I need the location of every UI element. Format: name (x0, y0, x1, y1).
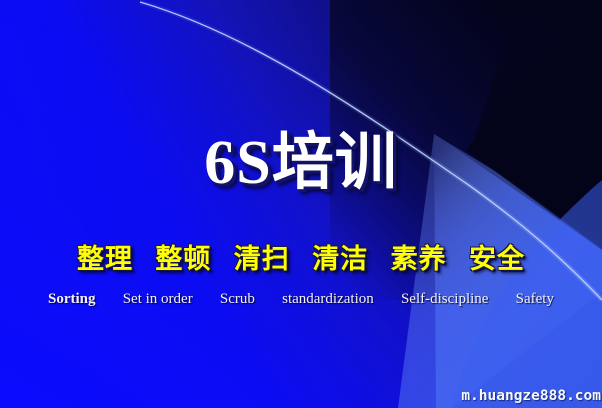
chinese-terms-row: 整理 整顿 清扫 清洁 素养 安全 (0, 243, 602, 277)
chinese-term-5: 素养 (391, 244, 447, 275)
chinese-term-6: 安全 (469, 244, 525, 275)
presentation-slide: 6S培训 整理 整顿 清扫 清洁 素养 安全 Sorting Set in or… (0, 0, 602, 408)
watermark-text: m.huangze888.com (461, 387, 601, 405)
english-term-1: Sorting (48, 289, 96, 309)
english-term-4: standardization (282, 289, 374, 309)
slide-content: 6S培训 整理 整顿 清扫 清洁 素养 安全 Sorting Set in or… (0, 0, 602, 408)
chinese-term-2: 整顿 (155, 244, 211, 275)
english-term-3: Scrub (220, 289, 255, 309)
page-title: 6S培训 (0, 126, 602, 200)
english-terms-row: Sorting Set in order Scrub standardizati… (0, 289, 602, 309)
english-term-2: Set in order (123, 289, 193, 309)
chinese-term-4: 清洁 (312, 244, 368, 275)
chinese-term-1: 整理 (77, 244, 133, 275)
english-term-6: Safety (516, 289, 554, 309)
english-term-5: Self-discipline (401, 289, 488, 309)
chinese-term-3: 清扫 (234, 244, 290, 275)
